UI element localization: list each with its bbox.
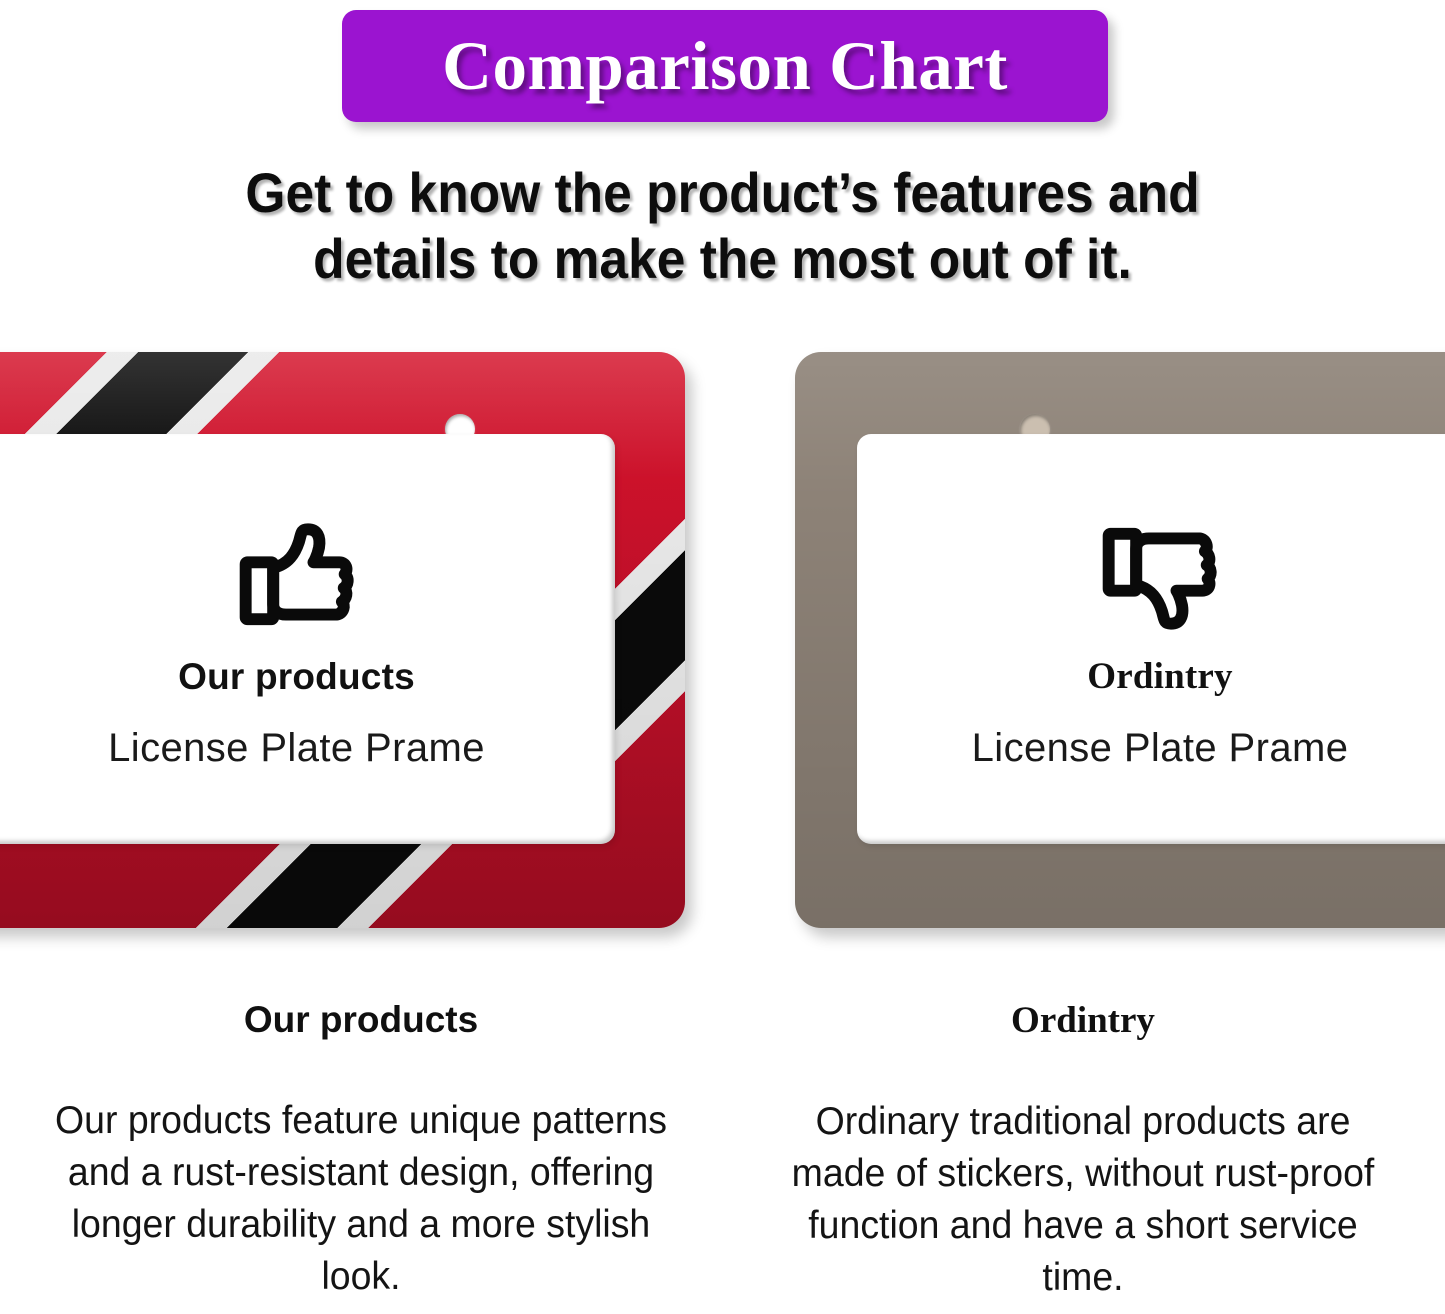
product-frame-ours: Our products License Plate Prame [0,352,685,928]
plate-window-ours: Our products License Plate Prame [0,434,615,844]
subtitle-line-1: Get to know the product’s features and [58,160,1387,226]
plate-window-ordinary: Ordintry License Plate Prame [857,434,1445,844]
plate-body-ordinary: Ordintry License Plate Prame [795,352,1445,928]
description-body-ours: Our products feature unique patterns and… [14,1095,707,1303]
title-banner: Comparison Chart [342,10,1108,122]
page-title: Comparison Chart [442,27,1008,106]
descriptions-row: Our products Our products feature unique… [0,985,1445,1314]
plate-body-ours: Our products License Plate Prame [0,352,685,928]
brand-label-ordinary: Ordintry [1087,655,1232,698]
frames-row: Our products License Plate Prame [0,352,1445,928]
product-frame-ordinary: Ordintry License Plate Prame [795,352,1445,928]
plate-window-content-ordinary: Ordintry License Plate Prame [857,434,1445,844]
description-heading-ours: Our products [0,999,722,1041]
subtitle-line-2: details to make the most out of it. [58,226,1387,292]
product-label-ours: License Plate Prame [108,726,485,771]
thumbs-down-icon [1101,521,1219,631]
description-heading-ordinary: Ordintry [722,999,1444,1042]
thumbs-up-icon [238,522,356,632]
description-column-ours: Our products Our products feature unique… [0,985,722,1303]
plate-window-content-ours: Our products License Plate Prame [0,434,615,844]
description-column-ordinary: Ordintry Ordinary traditional products a… [722,985,1444,1304]
comparison-chart-page: Comparison Chart Get to know the product… [0,0,1445,1314]
subtitle: Get to know the product’s features and d… [58,160,1387,292]
product-label-ordinary: License Plate Prame [972,726,1349,771]
description-body-ordinary: Ordinary traditional products are made o… [736,1096,1429,1304]
brand-label-ours: Our products [178,656,415,698]
